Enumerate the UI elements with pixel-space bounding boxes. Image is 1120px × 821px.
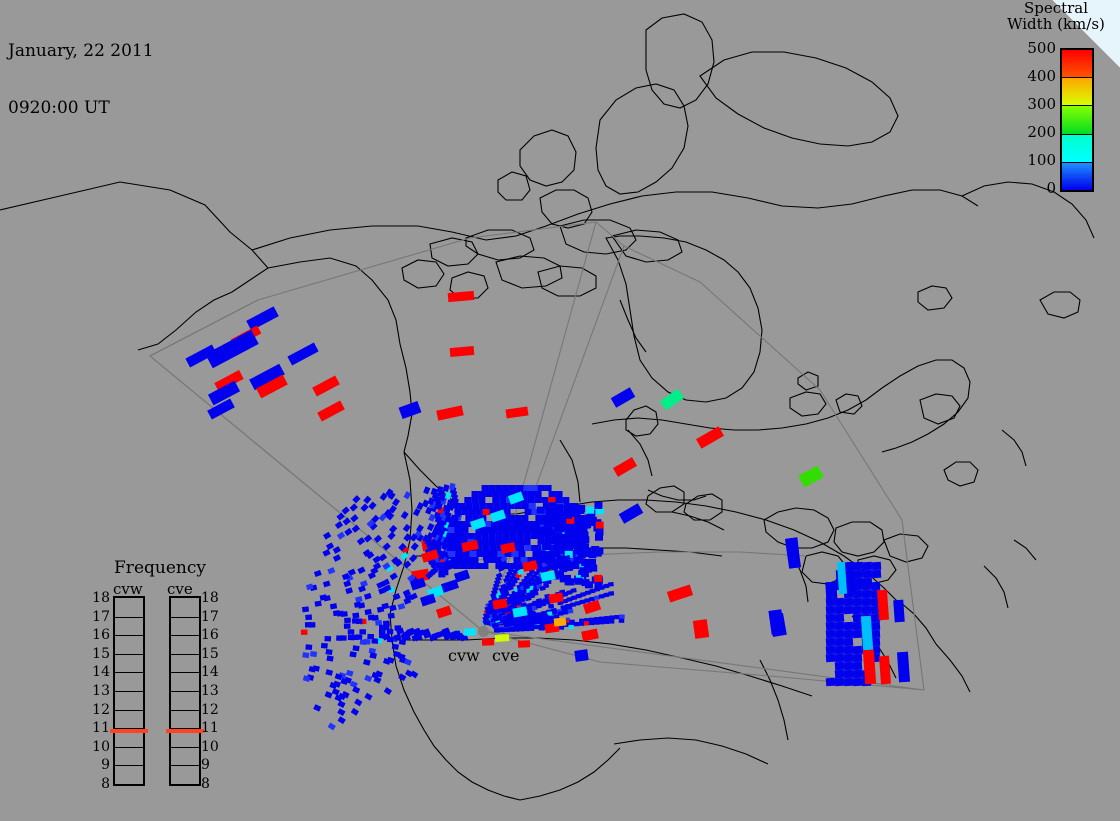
colorbar-tick-100: 100 <box>1027 153 1056 168</box>
data-cell <box>826 678 836 687</box>
freq-tick-10: 10 <box>201 740 219 754</box>
colorbar-segment-4 <box>1062 163 1092 190</box>
data-cell <box>835 638 845 647</box>
data-cell <box>871 582 881 591</box>
data-cell <box>786 538 800 569</box>
colorbar-tick-200: 200 <box>1027 125 1056 140</box>
eastern-scatter-cluster <box>0 0 1120 821</box>
colorbar-tick-300: 300 <box>1027 97 1056 112</box>
freq-tick-14: 14 <box>201 665 219 679</box>
data-cell <box>826 606 836 615</box>
data-cell <box>853 598 863 607</box>
freq-tick-8: 8 <box>101 777 110 791</box>
data-cell <box>863 562 873 571</box>
data-cell <box>826 614 836 623</box>
data-cell <box>863 578 873 587</box>
frequency-bar-cve <box>169 596 201 786</box>
data-cell <box>844 670 854 679</box>
data-cell <box>844 662 854 671</box>
freq-tickline <box>115 747 143 748</box>
freq-tickline <box>171 672 199 673</box>
data-cell <box>835 606 845 615</box>
data-cell <box>853 606 863 615</box>
freq-tick-13: 13 <box>201 684 219 698</box>
freq-tickline <box>171 617 199 618</box>
freq-tick-18: 18 <box>201 591 219 605</box>
data-cell <box>844 606 854 615</box>
freq-tick-8: 8 <box>201 777 210 791</box>
freq-tickline <box>115 617 143 618</box>
data-cell <box>835 670 845 679</box>
colorbar-tick-0: 0 <box>1046 181 1056 196</box>
freq-tickline <box>171 635 199 636</box>
colorbar-title-line2: Width (km/s) <box>996 16 1116 32</box>
frequency-bar-cvw <box>113 596 145 786</box>
colorbar-tick-500: 500 <box>1027 41 1056 56</box>
data-cell <box>844 598 854 607</box>
data-cell <box>844 678 854 687</box>
colorbar-gradient <box>1060 48 1094 192</box>
data-cell <box>862 598 872 607</box>
data-cell <box>853 630 863 639</box>
data-cell <box>835 630 845 639</box>
freq-tick-12: 12 <box>201 703 219 717</box>
freq-tick-18: 18 <box>92 591 110 605</box>
data-cell <box>844 622 854 631</box>
data-cell <box>835 614 845 623</box>
freq-tick-17: 17 <box>201 610 219 624</box>
data-cell <box>844 646 854 655</box>
data-cell <box>897 652 910 683</box>
site-label-cvw: cvw <box>448 646 480 665</box>
colorbar-title-line1: Spectral <box>996 0 1116 16</box>
data-cell <box>853 678 863 687</box>
colorbar-segment-3 <box>1062 135 1092 163</box>
data-cell <box>826 638 836 647</box>
freq-tickline <box>115 654 143 655</box>
data-cell <box>844 638 854 647</box>
freq-tick-11: 11 <box>92 721 110 735</box>
data-cell <box>863 570 873 579</box>
freq-tickline <box>171 654 199 655</box>
freq-tick-14: 14 <box>92 665 110 679</box>
data-cell <box>835 654 845 663</box>
data-cell <box>825 582 838 605</box>
freq-tickline <box>171 765 199 766</box>
freq-tick-10: 10 <box>92 740 110 754</box>
data-cell <box>872 562 882 571</box>
data-cell <box>877 590 889 621</box>
data-cell <box>853 646 863 655</box>
colorbar-segment-1 <box>1062 78 1092 106</box>
freq-tickline <box>115 691 143 692</box>
data-cell <box>854 562 864 571</box>
frequency-ticks-left: 18171615141312111098 <box>86 596 110 786</box>
data-cell <box>853 670 863 679</box>
freq-tickline <box>171 710 199 711</box>
data-cell <box>853 622 863 631</box>
data-cell <box>835 622 845 631</box>
freq-tick-13: 13 <box>92 684 110 698</box>
data-cell <box>835 678 845 687</box>
data-cell <box>768 609 784 635</box>
data-cell <box>826 646 836 655</box>
data-cell <box>853 662 863 671</box>
freq-tickline <box>115 765 143 766</box>
freq-tick-16: 16 <box>92 628 110 642</box>
freq-tickline <box>115 635 143 636</box>
frequency-legend-title: Frequency <box>105 558 215 578</box>
colorbar-title: Spectral Width (km/s) <box>996 0 1116 32</box>
data-cell <box>835 662 845 671</box>
data-cell <box>862 606 872 615</box>
colorbar-segment-0 <box>1062 50 1092 78</box>
data-cell <box>844 630 854 639</box>
data-cell <box>879 656 891 685</box>
colorbar-tick-400: 400 <box>1027 69 1056 84</box>
frequency-ticks-right: 18171615141312111098 <box>201 596 225 786</box>
radar-site-marker <box>478 626 489 637</box>
data-cell <box>826 622 836 631</box>
data-cell <box>893 600 905 623</box>
freq-tick-15: 15 <box>92 647 110 661</box>
freq-tick-15: 15 <box>201 647 219 661</box>
data-cell <box>844 654 854 663</box>
freq-marker-cvw <box>110 729 148 733</box>
freq-tickline <box>171 691 199 692</box>
data-cell <box>854 570 864 579</box>
site-label-cve: cve <box>492 646 519 665</box>
data-cell <box>826 654 836 663</box>
freq-tickline <box>115 710 143 711</box>
data-cell <box>853 614 863 623</box>
freq-tick-17: 17 <box>92 610 110 624</box>
freq-tick-11: 11 <box>201 721 219 735</box>
freq-tickline <box>115 672 143 673</box>
data-cell <box>872 570 882 579</box>
data-cell <box>871 622 881 631</box>
freq-tick-12: 12 <box>92 703 110 717</box>
freq-tickline <box>171 747 199 748</box>
freq-tick-16: 16 <box>201 628 219 642</box>
colorbar-tick-labels: 5004003002001000 <box>1000 40 1056 196</box>
colorbar-segment-2 <box>1062 106 1092 134</box>
freq-marker-cve <box>166 729 204 733</box>
freq-tick-9: 9 <box>201 758 210 772</box>
data-cell <box>862 590 872 599</box>
data-cell <box>835 646 845 655</box>
radar-map-canvas: January, 22 2011 0920:00 UT <box>0 0 1120 821</box>
data-cell <box>853 654 863 663</box>
freq-tick-9: 9 <box>101 758 110 772</box>
data-cell <box>826 630 836 639</box>
